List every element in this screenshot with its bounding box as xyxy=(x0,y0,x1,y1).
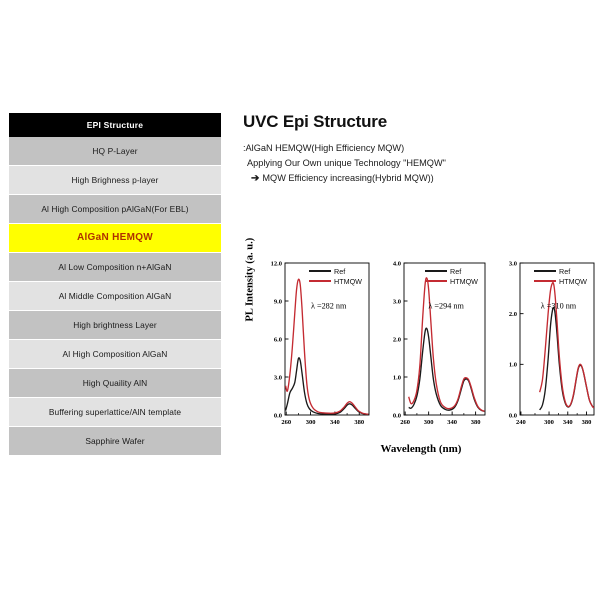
wavelength-annotation: λ =282 nm xyxy=(311,302,347,311)
description-line-3-text: MQW Efficiency increasing(Hybrid MQW)) xyxy=(262,173,433,183)
page-title: UVC Epi Structure xyxy=(243,112,595,132)
x-axis-tick-label: 380 xyxy=(582,419,592,426)
x-axis-tick-label: 380 xyxy=(354,419,364,426)
wavelength-annotation: λ =294 nm xyxy=(428,302,464,311)
y-axis-tick-label: 12.0 xyxy=(271,260,282,267)
y-axis-tick-label: 2.0 xyxy=(393,336,401,343)
y-axis-tick-label: 4.0 xyxy=(393,260,401,267)
x-axis-tick-label: 340 xyxy=(563,419,573,426)
x-axis-tick-label: 260 xyxy=(281,419,291,426)
epi-structure-stack: EPI Structure HQ P-LayerHigh Brighness p… xyxy=(9,113,221,456)
legend-label: HTMQW xyxy=(559,277,587,286)
epi-layer-highlighted: AlGaN HEMQW xyxy=(9,224,221,253)
epi-structure-header: EPI Structure xyxy=(9,113,221,137)
chart-panel-310nm: 0.01.02.03.0240300340380RefHTMQWλ =310 n… xyxy=(494,257,597,437)
chart-y-axis-label: PL Intensity (a. u.) xyxy=(245,308,256,322)
epi-layer: High brightness Layer xyxy=(9,311,221,340)
y-axis-tick-label: 6.0 xyxy=(274,336,282,343)
epi-layer: Al Middle Composition AlGaN xyxy=(9,282,221,311)
chart-svg: 0.03.06.09.012.0260300340380RefHTMQWλ =2… xyxy=(259,257,372,437)
epi-layer: HQ P-Layer xyxy=(9,137,221,166)
y-axis-tick-label: 3.0 xyxy=(274,374,282,381)
wavelength-annotation: λ =310 nm xyxy=(541,302,577,311)
x-axis-tick-label: 380 xyxy=(471,419,481,426)
legend-label: HTMQW xyxy=(450,277,478,286)
chart-svg: 0.01.02.03.0240300340380RefHTMQWλ =310 n… xyxy=(494,257,597,437)
chart-svg: 0.01.02.03.04.0260300340380RefHTMQWλ =29… xyxy=(378,257,488,437)
epi-layer: Sapphire Wafer xyxy=(9,427,221,456)
x-axis-tick-label: 300 xyxy=(306,419,316,426)
y-axis-tick-label: 2.0 xyxy=(509,311,517,318)
arrow-right-icon: ➔ xyxy=(251,173,262,184)
description-line-3: ➔MQW Efficiency increasing(Hybrid MQW)) xyxy=(243,171,595,186)
y-axis-tick-label: 9.0 xyxy=(274,298,282,305)
x-axis-tick-label: 260 xyxy=(400,419,410,426)
legend-label: Ref xyxy=(450,267,461,276)
description-line-1: :AlGaN HEMQW(High Efficiency MQW) xyxy=(243,141,595,156)
chart-panel-282nm: 0.03.06.09.012.0260300340380RefHTMQWλ =2… xyxy=(259,257,372,437)
epi-layer: Al High Composition AlGaN xyxy=(9,340,221,369)
right-panel: UVC Epi Structure :AlGaN HEMQW(High Effi… xyxy=(243,112,595,186)
x-axis-tick-label: 300 xyxy=(424,419,434,426)
epi-layer: Al High Composition pAlGaN(For EBL) xyxy=(9,195,221,224)
x-axis-tick-label: 340 xyxy=(330,419,340,426)
chart-panel-294nm: 0.01.02.03.04.0260300340380RefHTMQWλ =29… xyxy=(378,257,488,437)
x-axis-tick-label: 240 xyxy=(516,419,526,426)
legend-label: HTMQW xyxy=(334,277,362,286)
legend-label: Ref xyxy=(559,267,570,276)
epi-layer: Al Low Composition n+AlGaN xyxy=(9,253,221,282)
epi-layer: High Brighness p-layer xyxy=(9,166,221,195)
y-axis-tick-label: 3.0 xyxy=(393,298,401,305)
y-axis-tick-label: 1.0 xyxy=(509,362,517,369)
pl-spectra-figure: PL Intensity (a. u.) 0.03.06.09.012.0260… xyxy=(245,257,597,472)
epi-layer: High Quaility AlN xyxy=(9,369,221,398)
y-axis-tick-label: 3.0 xyxy=(509,260,517,267)
epi-layer: Buffering superlattice/AlN template xyxy=(9,398,221,427)
x-axis-tick-label: 300 xyxy=(544,419,554,426)
y-axis-tick-label: 1.0 xyxy=(393,374,401,381)
chart-x-axis-label: Wavelength (nm) xyxy=(245,443,597,455)
description-line-2: Applying Our Own unique Technology "HEMQ… xyxy=(243,156,595,171)
legend-label: Ref xyxy=(334,267,345,276)
epi-layer-list: HQ P-LayerHigh Brighness p-layerAl High … xyxy=(9,137,221,456)
x-axis-tick-label: 340 xyxy=(447,419,457,426)
